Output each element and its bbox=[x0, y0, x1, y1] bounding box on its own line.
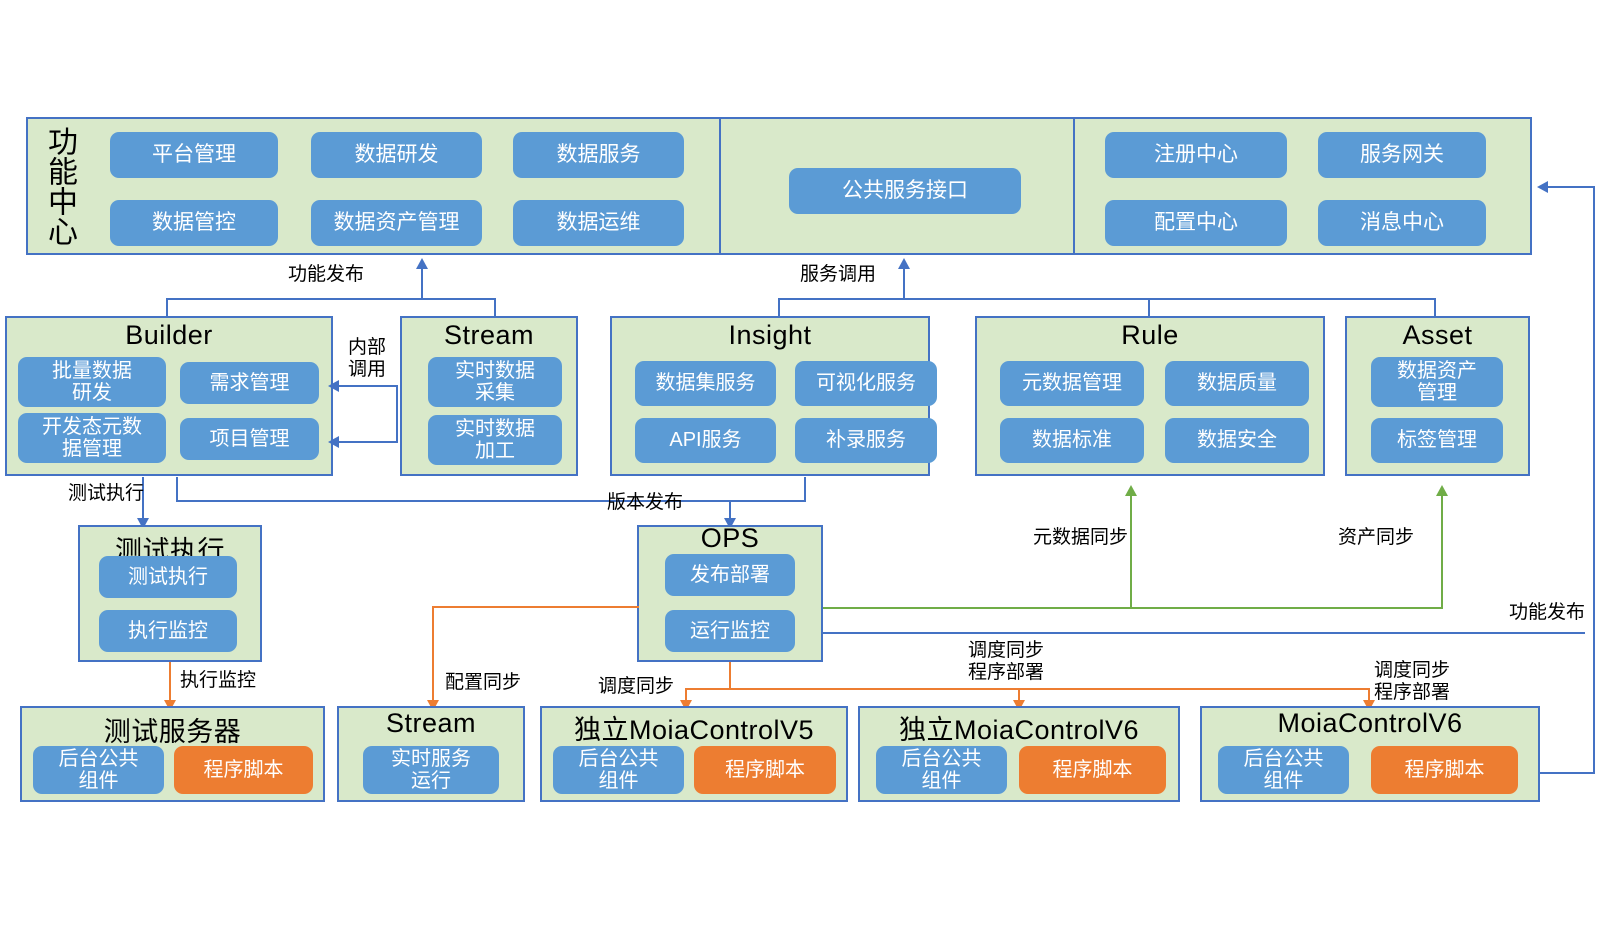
server-moia-v5-title: 独立MoiaControlV5 bbox=[540, 708, 848, 747]
bus-service-call-drop-rule bbox=[1148, 298, 1150, 316]
bus-function-publish-right-drop bbox=[494, 298, 496, 316]
chip-dataset-service[interactable]: 数据集服务 bbox=[635, 361, 776, 406]
chip-service-gateway[interactable]: 服务网关 bbox=[1318, 132, 1486, 178]
chip-data-development[interactable]: 数据研发 bbox=[311, 132, 482, 178]
server-moia-v6-title: MoiaControlV6 bbox=[1200, 708, 1540, 739]
green-arrow-asset bbox=[1436, 485, 1448, 496]
chip-data-quality[interactable]: 数据质量 bbox=[1165, 361, 1309, 406]
bus-service-call-drop-asset bbox=[1434, 298, 1436, 316]
chip-platform-management[interactable]: 平台管理 bbox=[110, 132, 278, 178]
server-moia-v6-standalone-title: 独立MoiaControlV6 bbox=[858, 708, 1180, 747]
right-feedback-top bbox=[1545, 186, 1595, 188]
label-version-publish: 版本发布 bbox=[607, 492, 683, 514]
module-asset-title: Asset bbox=[1345, 320, 1530, 351]
server-moia-v6-chip-script[interactable]: 程序脚本 bbox=[1371, 746, 1518, 794]
module-rule-title: Rule bbox=[975, 320, 1325, 351]
label-service-call: 服务调用 bbox=[800, 264, 876, 286]
chip-supplement-service[interactable]: 补录服务 bbox=[795, 418, 937, 463]
orange-distribution-bus bbox=[685, 688, 1370, 690]
server-stream-chip-runtime[interactable]: 实时服务 运行 bbox=[363, 746, 499, 794]
top-band-divider-1 bbox=[719, 119, 721, 253]
internal-call-arrow-2 bbox=[328, 436, 339, 448]
arrow-function-publish-head bbox=[416, 258, 428, 269]
chip-execution-monitor[interactable]: 执行监控 bbox=[99, 610, 237, 652]
box-ops-title: OPS bbox=[637, 523, 823, 554]
chip-runtime-monitor[interactable]: 运行监控 bbox=[665, 610, 795, 652]
chip-batch-data-development[interactable]: 批量数据 研发 bbox=[18, 357, 166, 407]
orange-ops-drop bbox=[729, 662, 731, 690]
chip-data-asset-mgmt[interactable]: 数据资产 管理 bbox=[1371, 357, 1503, 407]
server-test-chip-backend[interactable]: 后台公共 组件 bbox=[33, 746, 164, 794]
label-metadata-sync: 元数据同步 bbox=[1033, 527, 1128, 549]
server-test-chip-script[interactable]: 程序脚本 bbox=[174, 746, 313, 794]
green-bus bbox=[823, 607, 1443, 609]
label-schedule-sync-deploy-2: 调度同步 程序部署 bbox=[1374, 660, 1450, 705]
chip-public-service-interface[interactable]: 公共服务接口 bbox=[789, 168, 1021, 214]
server-test-title: 测试服务器 bbox=[20, 710, 325, 749]
chip-test-execution[interactable]: 测试执行 bbox=[99, 556, 237, 598]
bus-service-call-drop-insight bbox=[778, 298, 780, 316]
module-stream-title: Stream bbox=[400, 320, 578, 351]
internal-call-line-2 bbox=[336, 441, 398, 443]
function-center-label: 功能中心 bbox=[34, 122, 74, 250]
chip-dev-metadata-management[interactable]: 开发态元数 据管理 bbox=[18, 413, 166, 463]
blue-ops-bus bbox=[823, 632, 1585, 634]
chip-metadata-management[interactable]: 元数据管理 bbox=[1000, 361, 1144, 406]
chip-visualization-service[interactable]: 可视化服务 bbox=[795, 361, 937, 406]
arrow-service-call-head bbox=[898, 258, 910, 269]
chip-data-service[interactable]: 数据服务 bbox=[513, 132, 684, 178]
bus-service-call bbox=[778, 298, 1436, 300]
chip-api-service[interactable]: API服务 bbox=[635, 418, 776, 463]
label-internal-call: 内部 调用 bbox=[337, 337, 397, 382]
server-moia-v6-standalone-chip-backend[interactable]: 后台公共 组件 bbox=[876, 746, 1007, 794]
server-moia-v6-standalone-chip-script[interactable]: 程序脚本 bbox=[1019, 746, 1166, 794]
internal-call-riser bbox=[396, 385, 398, 443]
chip-requirement-management[interactable]: 需求管理 bbox=[180, 362, 319, 404]
chip-data-governance[interactable]: 数据管控 bbox=[110, 200, 278, 246]
label-schedule-sync: 调度同步 bbox=[598, 676, 674, 698]
right-feedback-bottom bbox=[1540, 772, 1595, 774]
arrow-service-call-stem bbox=[903, 266, 905, 298]
green-riser-rule bbox=[1130, 494, 1132, 609]
chip-data-security[interactable]: 数据安全 bbox=[1165, 418, 1309, 463]
label-function-publish-right: 功能发布 bbox=[1455, 602, 1585, 624]
label-schedule-sync-deploy: 调度同步 程序部署 bbox=[968, 640, 1044, 685]
bus-function-publish-left-drop bbox=[166, 298, 168, 316]
right-feedback-arrow bbox=[1537, 181, 1548, 193]
chip-realtime-data-collect[interactable]: 实时数据 采集 bbox=[428, 357, 562, 407]
chip-project-management[interactable]: 项目管理 bbox=[180, 418, 319, 460]
arrow-function-publish-stem bbox=[421, 266, 423, 298]
chip-data-standard[interactable]: 数据标准 bbox=[1000, 418, 1144, 463]
bus-version-publish-riser-builder bbox=[176, 477, 178, 500]
chip-tag-management[interactable]: 标签管理 bbox=[1371, 418, 1503, 463]
bus-function-publish bbox=[166, 298, 496, 300]
label-exec-monitor: 执行监控 bbox=[180, 670, 256, 692]
architecture-diagram: 功能中心 平台管理 数据研发 数据服务 数据管控 数据资产管理 数据运维 公共服… bbox=[0, 0, 1611, 940]
orange-exec-monitor-stem bbox=[169, 662, 171, 704]
module-insight-title: Insight bbox=[610, 320, 930, 351]
chip-registry-center[interactable]: 注册中心 bbox=[1105, 132, 1287, 178]
module-builder-title: Builder bbox=[5, 320, 333, 351]
label-asset-sync: 资产同步 bbox=[1338, 527, 1414, 549]
green-arrow-rule bbox=[1125, 485, 1137, 496]
label-config-sync: 配置同步 bbox=[445, 672, 521, 694]
chip-release-deploy[interactable]: 发布部署 bbox=[665, 554, 795, 596]
bus-version-publish bbox=[176, 500, 806, 502]
internal-call-line-1 bbox=[336, 385, 398, 387]
label-test-exec: 测试执行 bbox=[68, 483, 144, 505]
orange-config-sync-h bbox=[432, 606, 639, 608]
top-band-divider-2 bbox=[1073, 119, 1075, 253]
orange-config-sync-v bbox=[432, 606, 434, 704]
label-function-publish: 功能发布 bbox=[288, 264, 364, 286]
chip-config-center[interactable]: 配置中心 bbox=[1105, 200, 1287, 246]
server-moia-v5-chip-backend[interactable]: 后台公共 组件 bbox=[553, 746, 684, 794]
bus-version-publish-riser-insight bbox=[804, 477, 806, 500]
chip-message-center[interactable]: 消息中心 bbox=[1318, 200, 1486, 246]
server-moia-v5-chip-script[interactable]: 程序脚本 bbox=[694, 746, 836, 794]
green-riser-asset bbox=[1441, 494, 1443, 609]
chip-data-operation[interactable]: 数据运维 bbox=[513, 200, 684, 246]
server-moia-v6-chip-backend[interactable]: 后台公共 组件 bbox=[1218, 746, 1349, 794]
server-stream-title: Stream bbox=[337, 708, 525, 739]
chip-realtime-data-process[interactable]: 实时数据 加工 bbox=[428, 415, 562, 465]
chip-data-asset-management[interactable]: 数据资产管理 bbox=[311, 200, 482, 246]
right-feedback-riser bbox=[1593, 186, 1595, 774]
